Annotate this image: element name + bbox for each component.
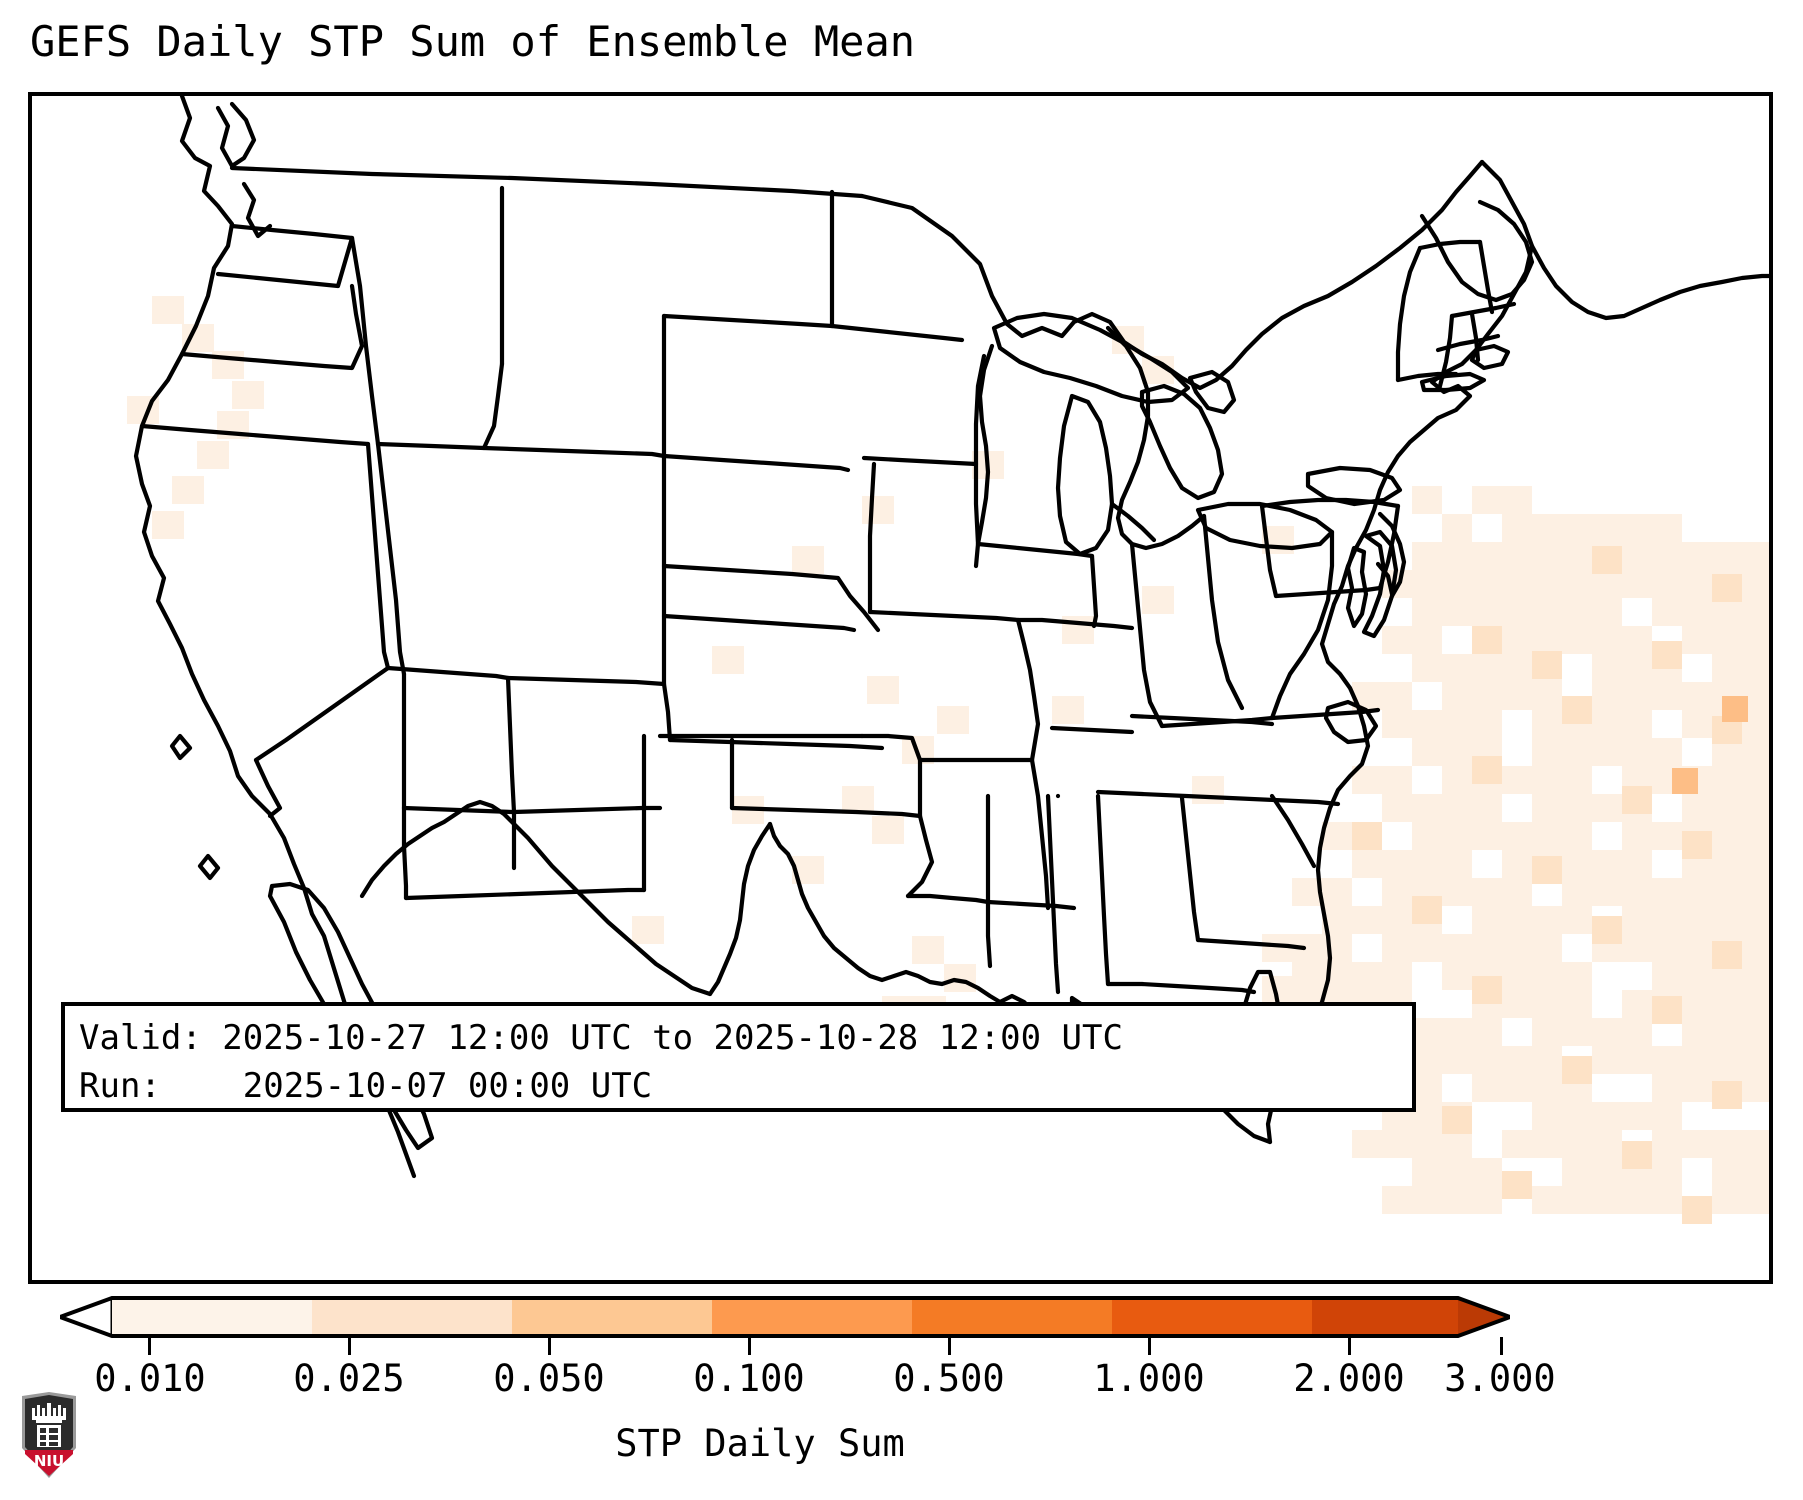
colorbar-tick-label: 0.010	[94, 1357, 205, 1400]
info-box: Valid: 2025-10-27 12:00 UTC to 2025-10-2…	[61, 1002, 1416, 1112]
colorbar-tick	[1148, 1337, 1151, 1355]
colorbar-tick	[348, 1337, 351, 1355]
page-title: GEFS Daily STP Sum of Ensemble Mean	[30, 20, 915, 64]
colorbar-tick-label: 0.100	[693, 1357, 804, 1400]
colorbar-tick	[1500, 1337, 1503, 1355]
colorbar-ticks	[60, 1337, 1510, 1357]
colorbar-tick	[1348, 1337, 1351, 1355]
valid-time-line: Valid: 2025-10-27 12:00 UTC to 2025-10-2…	[79, 1014, 1398, 1062]
run-time-line: Run: 2025-10-07 00:00 UTC	[79, 1062, 1398, 1110]
niu-logo: NIU	[18, 1392, 80, 1480]
colorbar-tick	[148, 1337, 151, 1355]
colorbar-tick	[748, 1337, 751, 1355]
colorbar-tick-label: 1.000	[1093, 1357, 1204, 1400]
colorbar-tick	[548, 1337, 551, 1355]
colorbar-tick-label: 3.000	[1444, 1357, 1555, 1400]
colorbar-tick-label: 0.025	[293, 1357, 404, 1400]
colorbar-tick-label: 0.500	[893, 1357, 1004, 1400]
colorbar-tick-labels: 0.010 0.025 0.050 0.100 0.500 1.000 2.00…	[0, 1357, 1600, 1417]
colorbar-tick	[948, 1337, 951, 1355]
map-panel[interactable]: Valid: 2025-10-27 12:00 UTC to 2025-10-2…	[28, 92, 1773, 1284]
colorbar-gradient	[60, 1296, 1510, 1338]
colorbar-tick-label: 0.050	[493, 1357, 604, 1400]
niu-logo-text: NIU	[34, 1452, 64, 1470]
colorbar[interactable]	[60, 1296, 1510, 1342]
colorbar-axis-title: STP Daily Sum	[0, 1422, 1520, 1465]
colorbar-tick-label: 2.000	[1293, 1357, 1404, 1400]
